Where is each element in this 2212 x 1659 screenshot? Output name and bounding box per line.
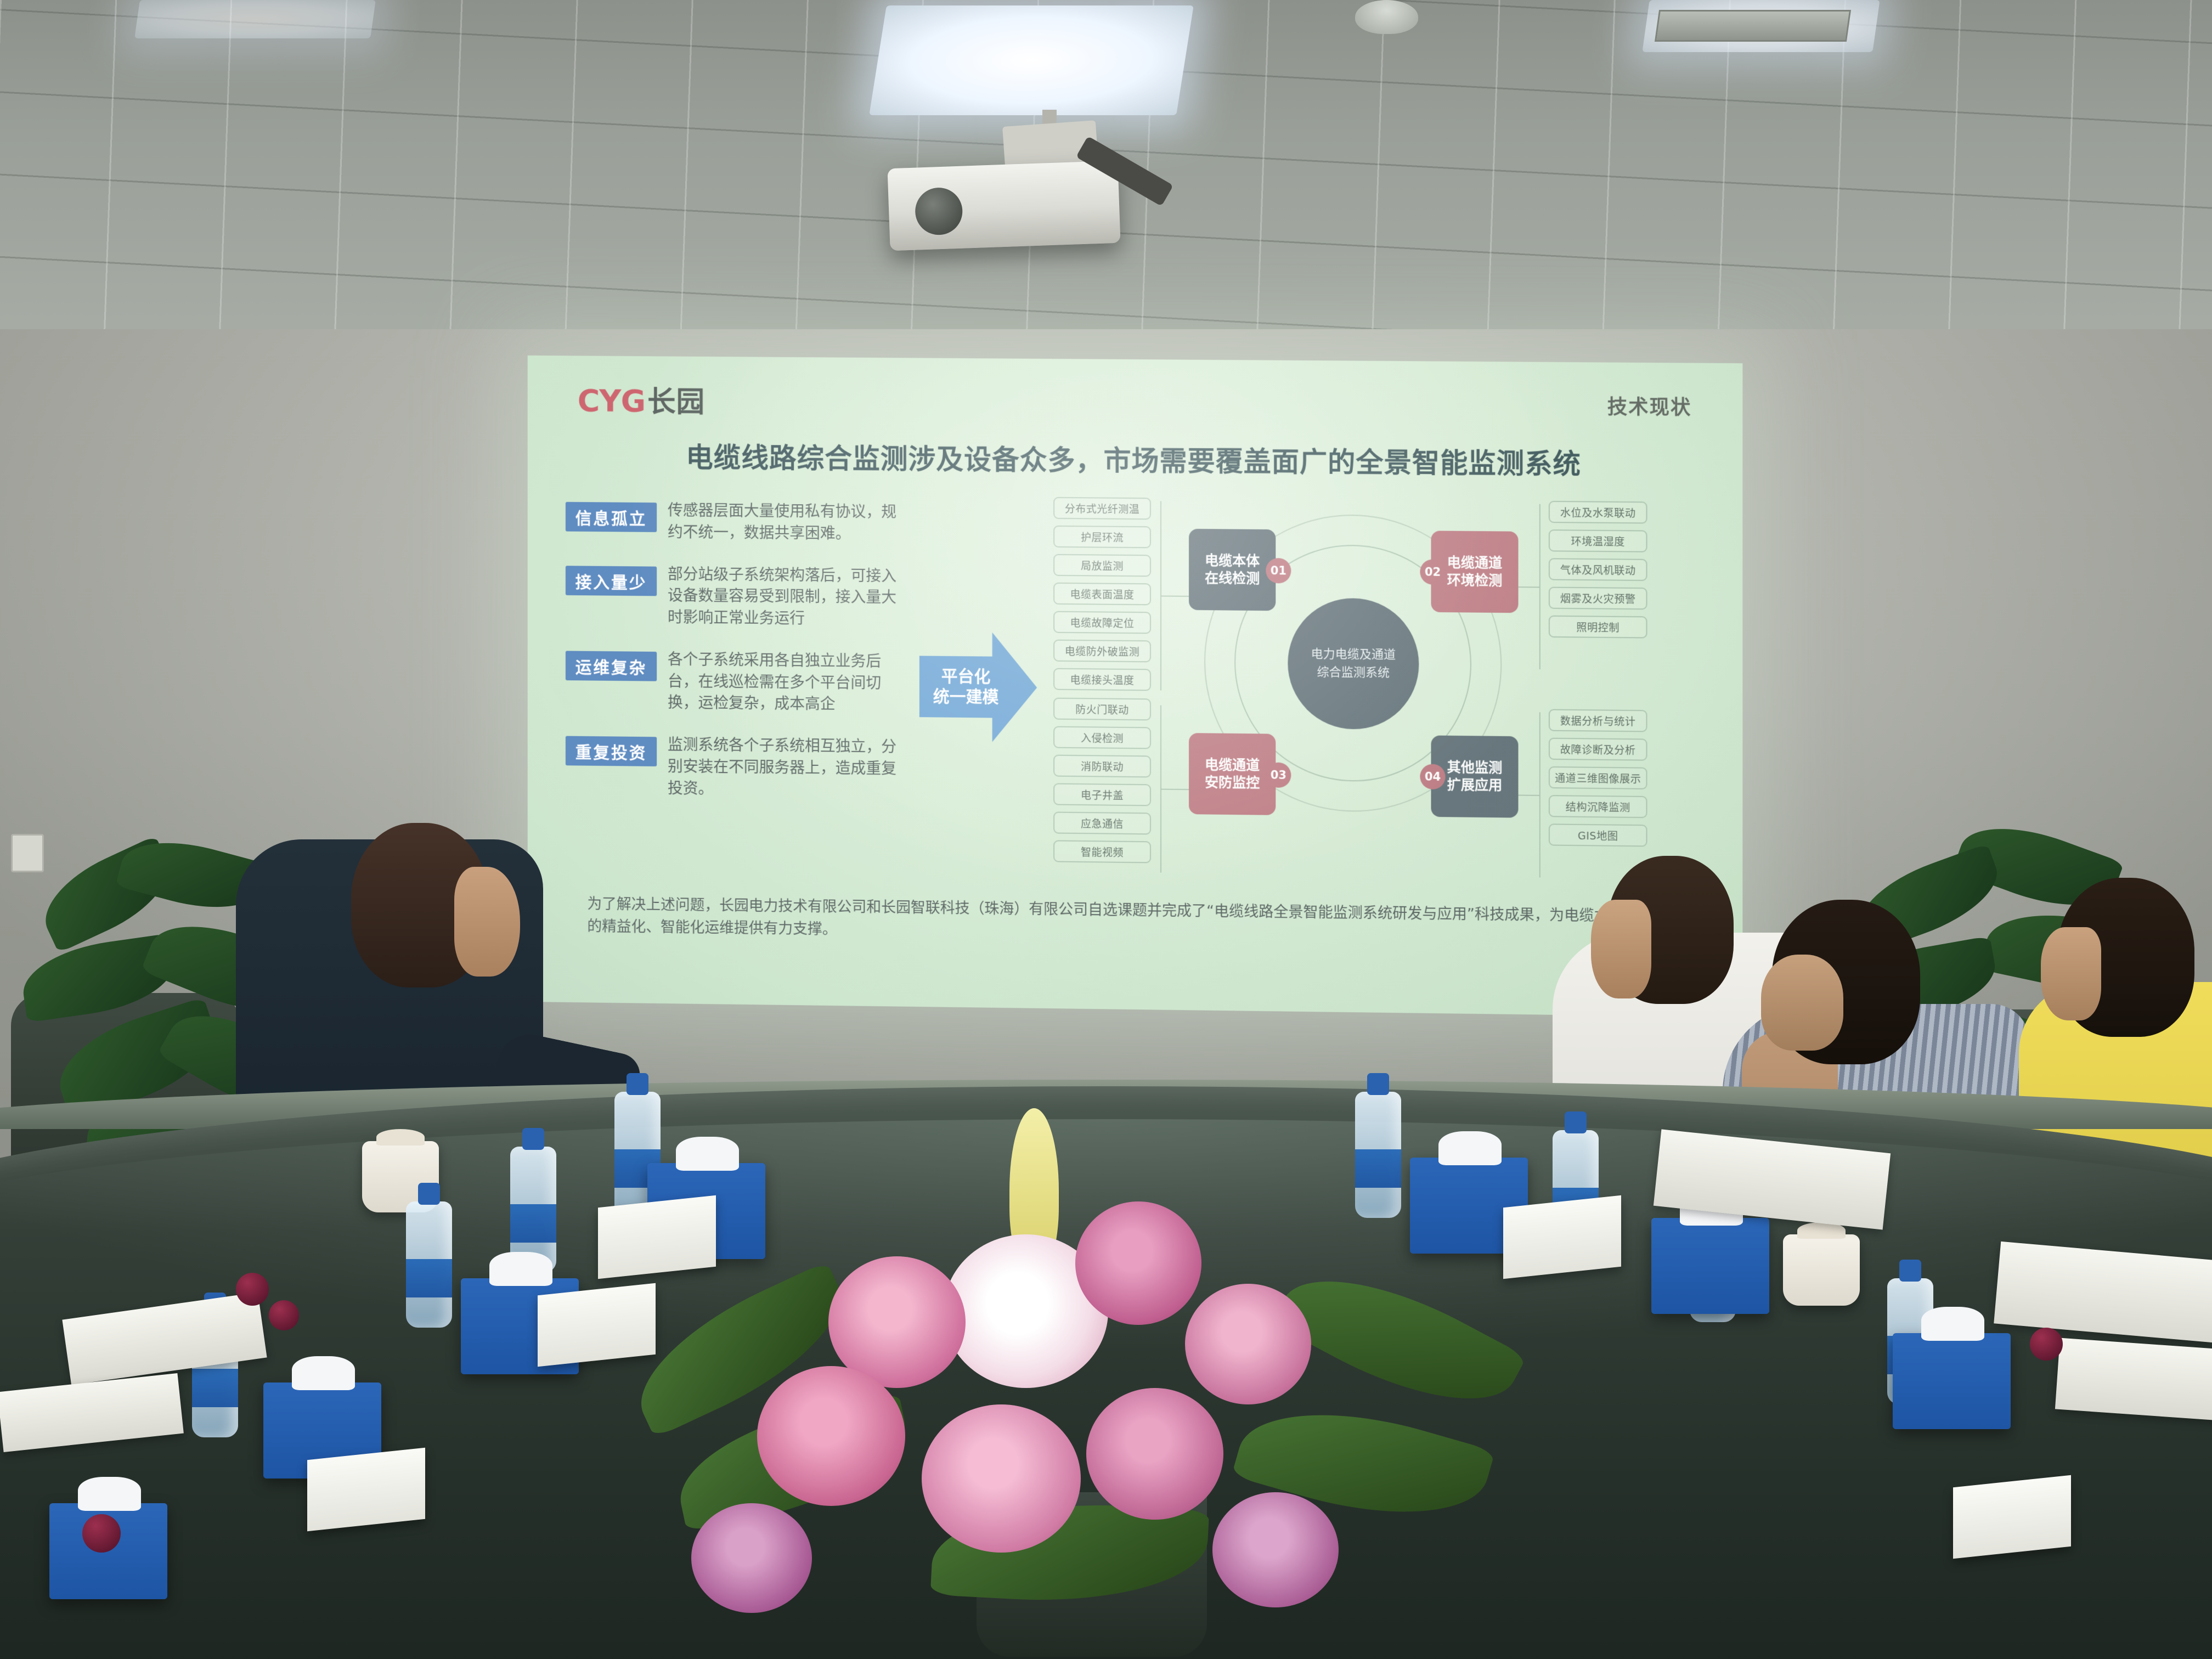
pink-rose xyxy=(757,1366,905,1506)
hub-line2: 综合监测系统 xyxy=(1317,663,1390,682)
attendee-hand xyxy=(1761,955,1843,1051)
fruit xyxy=(236,1273,269,1306)
slide-section-tag: 技术现状 xyxy=(1607,391,1692,420)
transition-arrow: 平台化 统一建模 xyxy=(919,631,1037,742)
name-card xyxy=(307,1448,425,1532)
problem-text: 各个子系统采用各自独立业务后台，在线巡检需在多个平台间切换，运检复杂，成本高企 xyxy=(668,648,902,716)
tea-cup xyxy=(1783,1234,1860,1306)
capability-tag: GIS地图 xyxy=(1549,823,1647,847)
problem-item: 接入量少 部分站级子系统架构落后，可接入设备数量容易受到限制，接入量大时影响正常… xyxy=(566,562,914,630)
capability-tag: 防火门联动 xyxy=(1053,698,1151,721)
problem-badge: 接入量少 xyxy=(566,566,657,596)
capability-tag: 故障诊断及分析 xyxy=(1549,738,1647,761)
tissue-box xyxy=(1651,1218,1769,1314)
hub-line1: 电力电缆及通道 xyxy=(1311,645,1396,664)
problem-badge: 重复投资 xyxy=(566,736,657,766)
capability-tag: 消防联动 xyxy=(1053,755,1151,778)
problem-item: 信息孤立 传感器层面大量使用私有协议，规约不统一，数据共享困难。 xyxy=(566,499,914,545)
capability-tag: 结构沉降监测 xyxy=(1549,795,1647,818)
capability-tag: 照明控制 xyxy=(1549,616,1647,639)
node-line2: 环境检测 xyxy=(1447,572,1503,589)
capability-tag: 电缆表面温度 xyxy=(1053,583,1151,606)
capability-tag: 数据分析与统计 xyxy=(1549,709,1647,732)
capability-tag: 通道三维图像展示 xyxy=(1549,766,1647,789)
node-number-03: 03 xyxy=(1266,763,1291,788)
node-line1: 其他监测 xyxy=(1447,759,1503,775)
diagram-node-03: 电缆通道 安防监控 xyxy=(1189,733,1276,815)
capability-tag: 水位及水泵联动 xyxy=(1549,501,1647,524)
pink-rose xyxy=(1075,1201,1201,1325)
tag-group-right-bottom: 数据分析与统计 故障诊断及分析 通道三维图像展示 结构沉降监测 GIS地图 xyxy=(1549,709,1647,853)
node-number-01: 01 xyxy=(1266,558,1291,583)
logo-chinese-text: 长园 xyxy=(647,379,705,420)
air-vent xyxy=(1655,10,1851,42)
system-diagram: 电力电缆及通道 综合监测系统 电缆本体 在线检测 01 电缆通道 环境检测 xyxy=(1182,497,1524,885)
tissue-box xyxy=(1893,1333,2011,1429)
problem-list: 信息孤立 传感器层面大量使用私有协议，规约不统一，数据共享困难。 接入量少 部分… xyxy=(566,499,914,822)
presenter-face xyxy=(454,867,520,977)
projection-screen: CYG 长园 技术现状 电缆线路综合监测涉及设备众多，市场需要覆盖面广的全景智能… xyxy=(528,356,1743,1017)
capability-tag: 气体及风机联动 xyxy=(1549,558,1647,581)
flower-bouquet xyxy=(592,1075,1580,1659)
pink-rose xyxy=(1185,1284,1311,1404)
tag-group-left-bottom: 防火门联动 入侵检测 消防联动 电子井盖 应急通信 智能视频 xyxy=(1053,698,1151,870)
capability-tag: 电缆防外破监测 xyxy=(1053,640,1151,663)
arrow-line1: 平台化 xyxy=(941,667,991,686)
capability-tag: 护层环流 xyxy=(1053,526,1151,548)
capability-tag: 分布式光纤测温 xyxy=(1053,497,1151,520)
node-line2: 扩展应用 xyxy=(1447,777,1503,793)
fruit xyxy=(2030,1328,2063,1361)
presentation-slide: CYG 长园 技术现状 电缆线路综合监测涉及设备众多，市场需要覆盖面广的全景智能… xyxy=(528,356,1743,1017)
connector-line xyxy=(1539,712,1541,877)
problem-item: 重复投资 监测系统各个子系统相互独立，分别安装在不同服务器上，造成重复投资。 xyxy=(566,733,914,802)
capability-tag: 环境温湿度 xyxy=(1549,529,1647,552)
problem-text: 部分站级子系统架构落后，可接入设备数量容易受到限制，接入量大时影响正常业务运行 xyxy=(668,563,902,630)
attendee-face xyxy=(1591,900,1651,998)
document-sheet xyxy=(2055,1338,2212,1422)
capability-tag: 电子井盖 xyxy=(1053,783,1151,806)
tag-group-right-top: 水位及水泵联动 环境温湿度 气体及风机联动 烟雾及火灾预警 照明控制 xyxy=(1549,501,1647,645)
node-line1: 电缆通道 xyxy=(1205,757,1260,773)
problem-item: 运维复杂 各个子系统采用各自独立业务后台，在线巡检需在多个平台间切换，运检复杂，… xyxy=(566,647,914,716)
capability-tag: 智能视频 xyxy=(1053,840,1151,863)
problem-text: 传感器层面大量使用私有协议，规约不统一，数据共享困难。 xyxy=(668,499,902,545)
node-number-04: 04 xyxy=(1420,764,1445,789)
smoke-detector-icon xyxy=(1355,0,1418,34)
capability-tag: 电缆故障定位 xyxy=(1053,611,1151,634)
problem-badge: 信息孤立 xyxy=(566,502,657,532)
diagram-hub: 电力电缆及通道 综合监测系统 xyxy=(1288,597,1419,730)
ceiling-light xyxy=(134,0,376,38)
company-logo: CYG 长园 xyxy=(578,378,705,420)
capability-tag: 入侵检测 xyxy=(1053,726,1151,749)
pink-rose xyxy=(922,1404,1081,1553)
slide-footer-text: 为了解决上述问题，长园电力技术有限公司和长园智联科技（珠海）有限公司自选课题并完… xyxy=(587,893,1681,951)
name-card xyxy=(1953,1475,2071,1559)
node-number-02: 02 xyxy=(1420,559,1445,585)
ceiling-projector xyxy=(888,161,1121,251)
connector-line xyxy=(1539,504,1541,669)
fruit xyxy=(269,1300,299,1330)
node-line1: 电缆本体 xyxy=(1205,552,1260,569)
slide-title: 电缆线路综合监测涉及设备众多，市场需要覆盖面广的全景智能监测系统 xyxy=(528,435,1743,483)
conference-room-scene: CYG 长园 技术现状 电缆线路综合监测涉及设备众多，市场需要覆盖面广的全景智能… xyxy=(0,0,2212,1659)
node-line2: 在线检测 xyxy=(1205,570,1260,586)
pink-rose xyxy=(1086,1388,1223,1520)
logo-latin-text: CYG xyxy=(578,383,645,419)
tag-group-left-top: 分布式光纤测温 护层环流 局放监测 电缆表面温度 电缆故障定位 电缆防外破监测 … xyxy=(1053,497,1151,697)
node-line1: 电缆通道 xyxy=(1447,554,1503,571)
problem-badge: 运维复杂 xyxy=(566,651,657,681)
orchid xyxy=(1212,1492,1339,1607)
arrow-line2: 统一建模 xyxy=(933,687,999,707)
slide-header: CYG 长园 技术现状 xyxy=(528,376,1743,428)
fruit xyxy=(82,1514,121,1553)
node-line2: 安防监控 xyxy=(1205,774,1260,791)
capability-tag: 烟雾及火灾预警 xyxy=(1549,587,1647,610)
diagram-node-01: 电缆本体 在线检测 xyxy=(1189,529,1276,611)
water-bottle xyxy=(406,1201,452,1328)
orchid xyxy=(691,1503,812,1613)
attendee-face xyxy=(2041,927,2101,1020)
capability-tag: 局放监测 xyxy=(1053,554,1151,577)
ceiling-light xyxy=(869,5,1194,115)
problem-text: 监测系统各个子系统相互独立，分别安装在不同服务器上，造成重复投资。 xyxy=(668,733,902,801)
capability-tag: 电缆接头温度 xyxy=(1053,668,1151,691)
capability-tag: 应急通信 xyxy=(1053,811,1151,834)
